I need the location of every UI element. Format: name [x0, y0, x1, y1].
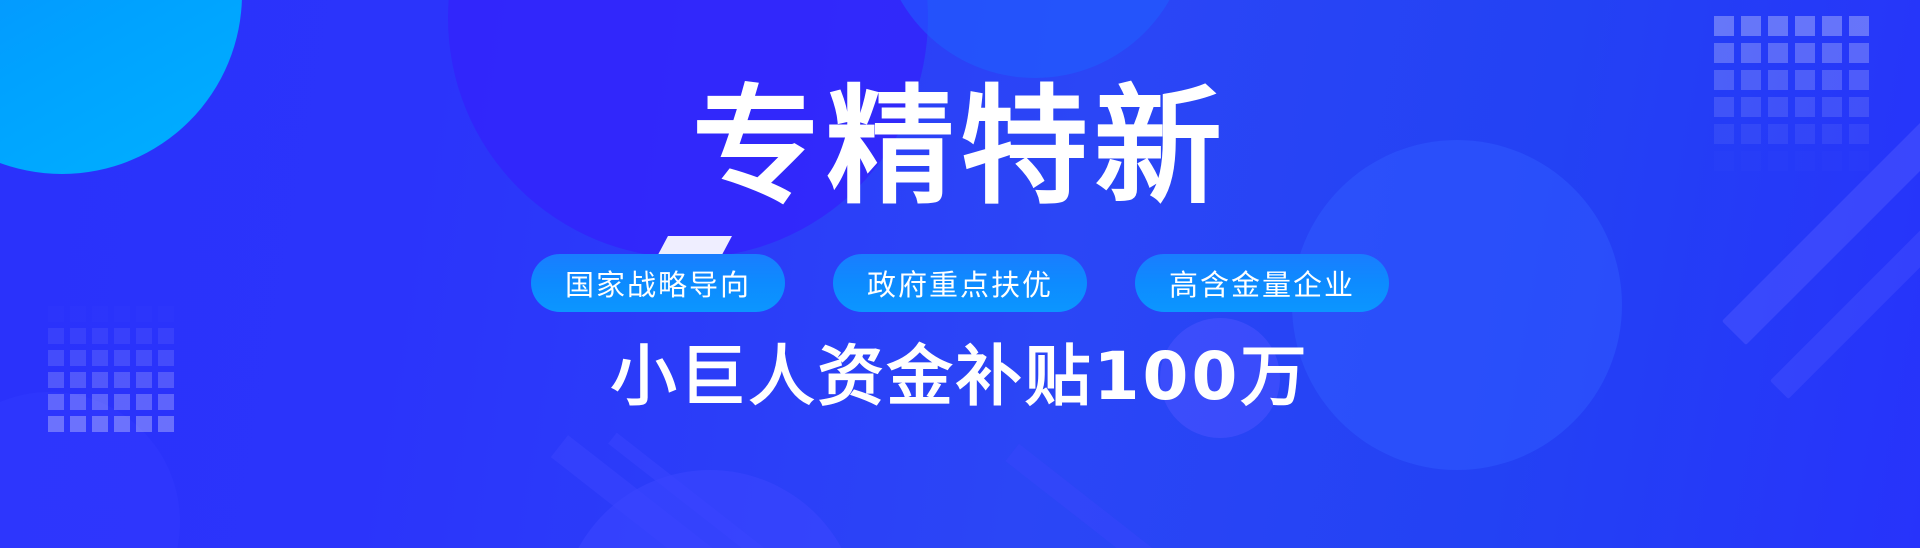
tag-badge-national-strategy[interactable]: 国家战略导向 [531, 254, 785, 312]
subsidy-headline: 小巨人资金补贴100万 [611, 344, 1310, 410]
tag-label: 政府重点扶优 [867, 262, 1053, 304]
tag-badge-high-value-enterprise[interactable]: 高含金量企业 [1135, 254, 1389, 312]
tag-label: 国家战略导向 [565, 262, 751, 304]
promo-banner: 专精特新 国家战略导向 政府重点扶优 高含金量企业 小巨人资金补贴100万 [0, 0, 1920, 548]
tag-list: 国家战略导向 政府重点扶优 高含金量企业 [531, 254, 1389, 312]
tag-label: 高含金量企业 [1169, 262, 1355, 304]
tag-badge-government-support[interactable]: 政府重点扶优 [833, 254, 1087, 312]
page-title: 专精特新 [692, 84, 1228, 212]
banner-content: 专精特新 国家战略导向 政府重点扶优 高含金量企业 小巨人资金补贴100万 [0, 0, 1920, 548]
